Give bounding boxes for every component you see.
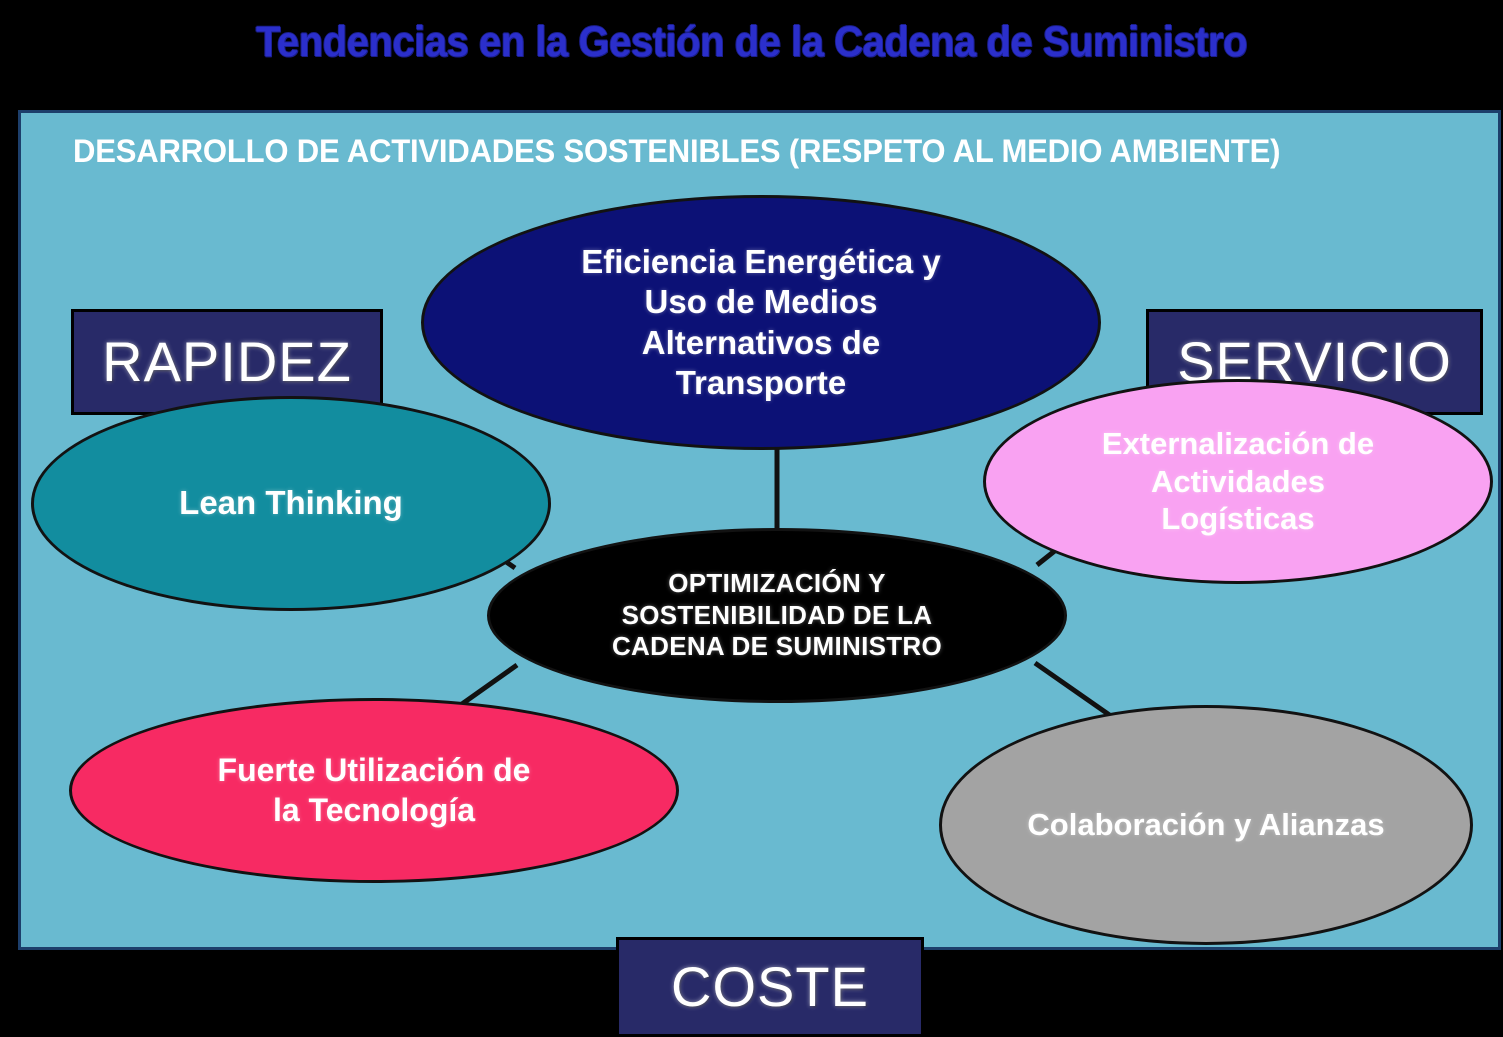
label-box-coste[interactable]: COSTE (616, 937, 924, 1037)
node-colaboracion-alianzas[interactable]: Colaboración y Alianzas (939, 705, 1473, 945)
node-lean-thinking[interactable]: Lean Thinking (31, 396, 551, 611)
node-lean-label: Lean Thinking (138, 483, 444, 523)
node-tecnologia-label: Fuerte Utilización dela Tecnología (169, 751, 579, 829)
panel-subtitle: DESARROLLO DE ACTIVIDADES SOSTENIBLES (R… (73, 131, 1431, 171)
diagram-panel: DESARROLLO DE ACTIVIDADES SOSTENIBLES (R… (18, 110, 1501, 950)
node-colaboracion-label: Colaboración y Alianzas (985, 806, 1427, 844)
node-external-label: Externalización deActividadesLogísticas (1062, 425, 1415, 538)
node-optimizacion-sostenibilidad[interactable]: OPTIMIZACIÓN YSOSTENIBILIDAD DE LACADENA… (487, 528, 1067, 703)
node-fuerte-utilizacion-tecnologia[interactable]: Fuerte Utilización dela Tecnología (69, 698, 679, 883)
node-energia-label: Eficiencia Energética yUso de MediosAlte… (527, 242, 994, 403)
node-externalizacion-actividades-logisticas[interactable]: Externalización deActividadesLogísticas (983, 379, 1493, 584)
page-title: Tendencias en la Gestión de la Cadena de… (53, 14, 1451, 70)
diagram-canvas: Tendencias en la Gestión de la Cadena de… (0, 0, 1503, 1024)
node-eficiencia-energetica[interactable]: Eficiencia Energética yUso de MediosAlte… (421, 195, 1101, 450)
node-center-label: OPTIMIZACIÓN YSOSTENIBILIDAD DE LACADENA… (566, 568, 988, 663)
